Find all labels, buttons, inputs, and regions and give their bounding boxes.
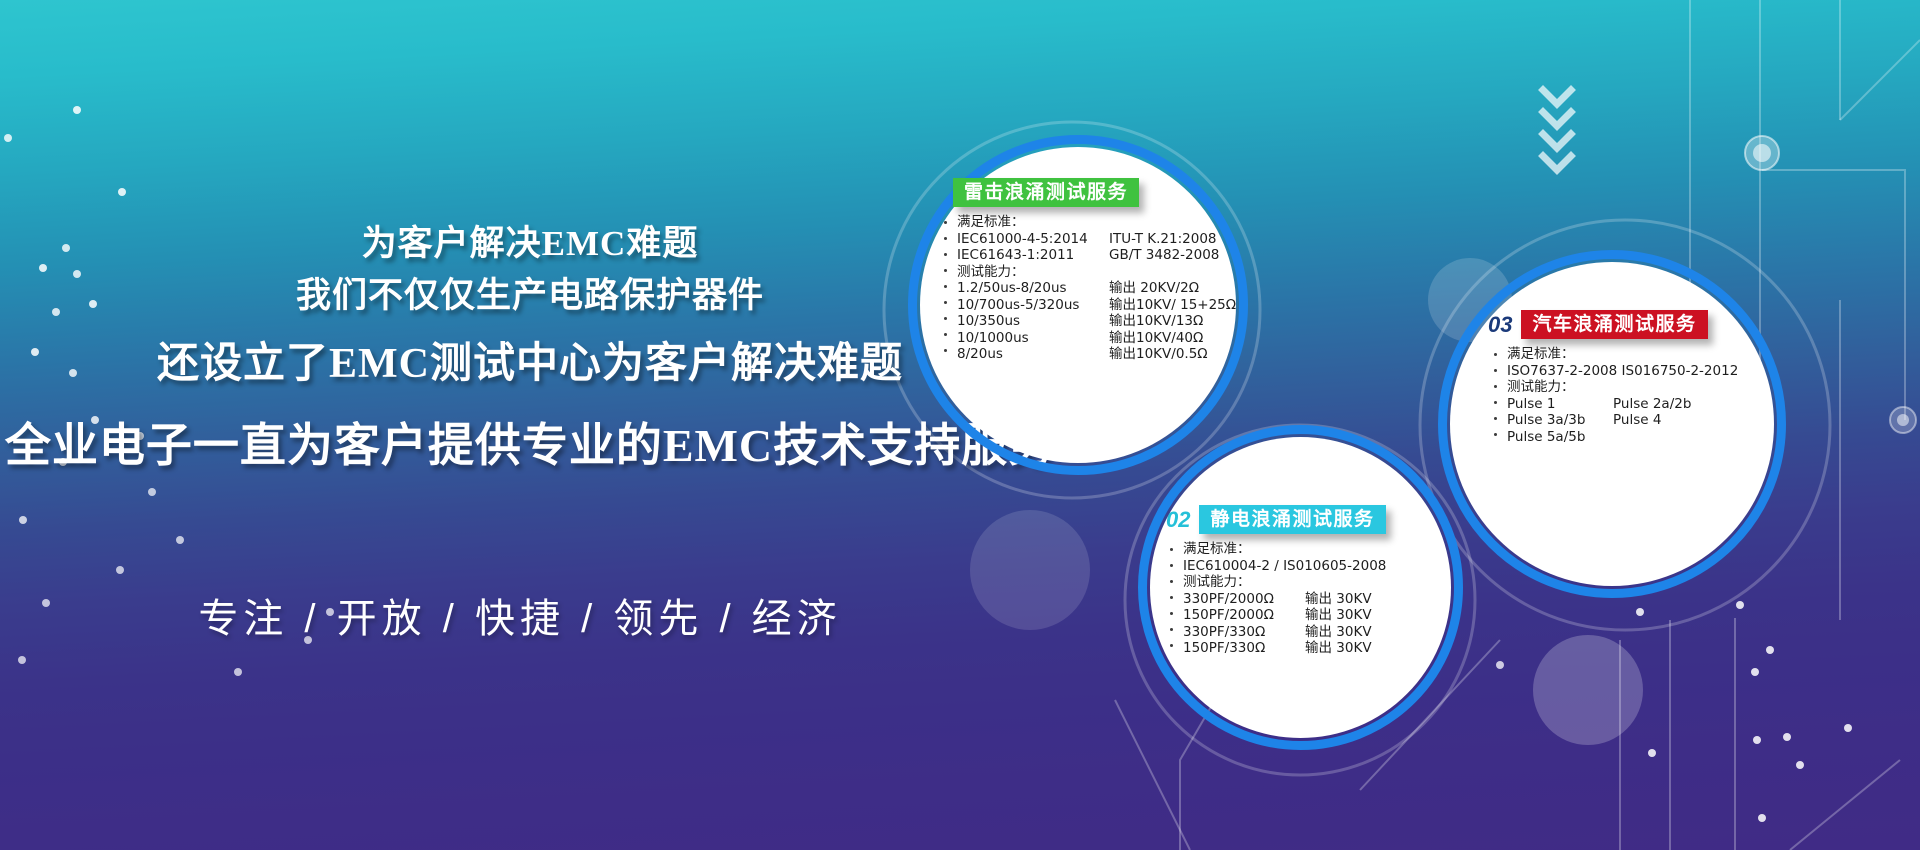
card-2-badge-row: 02 静电浪涌测试服务 [1166, 505, 1466, 534]
card-3-cap-2b: Pulse 4 [1613, 412, 1661, 429]
card-1-cap-2a: 10/700us-5/320us [957, 297, 1109, 314]
dot-column-icon [1494, 346, 1499, 449]
card-3-std-1a: ISO7637-2-2008 IS016750-2-2012 [1507, 363, 1738, 380]
card-3-badge-row: 03 汽车浪涌测试服务 [1488, 310, 1818, 339]
card-1-label-capability: 测试能力： [957, 264, 1236, 281]
card-2-number: 02 [1166, 509, 1190, 531]
node-icon [1890, 407, 1916, 433]
banner-stage: 为客户解决EMC难题 我们不仅仅生产电路保护器件 还设立了EMC测试中心为客户解… [0, 0, 1920, 850]
card-2-label-standards: 满足标准： [1183, 541, 1386, 558]
card-3-number: 03 [1488, 314, 1512, 336]
card-2-cap-1a: 330PF/2000Ω [1183, 591, 1305, 608]
card-2-cap-4b: 输出 30KV [1305, 640, 1372, 657]
card-2-label-capability: 测试能力： [1183, 574, 1386, 591]
card-1-std-1a: IEC61000-4-5:2014 [957, 231, 1109, 248]
dot-column-icon [1170, 541, 1175, 660]
headline-line-4: 全业电子一直为客户提供专业的EMC技术支持服务 [0, 406, 1060, 486]
card-2-cap-3b: 输出 30KV [1305, 624, 1372, 641]
card-1-cap-5a: 8/20us [957, 346, 1109, 363]
card-1-cap-3a: 10/350us [957, 313, 1109, 330]
card-1-label-standards: 满足标准： [957, 214, 1236, 231]
card-1-cap-4a: 10/1000us [957, 330, 1109, 347]
card-3-label-standards: 满足标准： [1507, 346, 1738, 363]
card-2-info: 满足标准： IEC610004-2 / IS010605-2008 测试能力： … [1170, 541, 1466, 660]
card-3-cap-3a: Pulse 5a/5b [1507, 429, 1613, 446]
card-3-cap-2a: Pulse 3a/3b [1507, 412, 1613, 429]
card-1-std-2a: IEC61643-1:2011 [957, 247, 1109, 264]
headline-block: 为客户解决EMC难题 我们不仅仅生产电路保护器件 还设立了EMC测试中心为客户解… [0, 218, 1060, 486]
card-1-badge-row: 雷击浪涌测试服务 [944, 178, 1244, 207]
tagline: 专注 / 开放 / 快捷 / 领先 / 经济 [0, 586, 1040, 644]
card-2-cap-1b: 输出 30KV [1305, 591, 1372, 608]
service-card-1-body: 雷击浪涌测试服务 满足标准： IEC61000-4-5:2014ITU-T K.… [944, 178, 1244, 365]
card-3-badge: 汽车浪涌测试服务 [1521, 310, 1707, 339]
card-2-cap-3a: 330PF/330Ω [1183, 624, 1305, 641]
card-1-cap-1a: 1.2/50us-8/20us [957, 280, 1109, 297]
card-1-cap-4b: 输出10KV/40Ω [1109, 330, 1203, 347]
card-2-cap-2b: 输出 30KV [1305, 607, 1372, 624]
card-3-cap-1a: Pulse 1 [1507, 396, 1613, 413]
chevron-down-icon [1543, 90, 1571, 170]
card-1-std-2b: GB/T 3482-2008 [1109, 247, 1219, 264]
card-2-std-1a: IEC610004-2 / IS010605-2008 [1183, 558, 1386, 575]
accent-blob [1533, 635, 1643, 745]
card-1-badge: 雷击浪涌测试服务 [953, 178, 1139, 207]
node-icon [1745, 136, 1779, 170]
dot-column-icon [944, 214, 949, 365]
service-card-3-body: 03 汽车浪涌测试服务 满足标准： ISO7637-2-2008 IS01675… [1488, 310, 1818, 449]
card-1-cap-3b: 输出10KV/13Ω [1109, 313, 1203, 330]
card-1-info: 满足标准： IEC61000-4-5:2014ITU-T K.21:2008 I… [944, 214, 1244, 365]
card-1-cap-1b: 输出 20KV/2Ω [1109, 280, 1199, 297]
headline-line-2: 我们不仅仅生产电路保护器件 [0, 270, 1060, 322]
card-1-cap-2b: 输出10KV/ 15+25Ω [1109, 297, 1236, 314]
card-2-cap-4a: 150PF/330Ω [1183, 640, 1305, 657]
card-3-label-capability: 测试能力： [1507, 379, 1738, 396]
headline-line-1: 为客户解决EMC难题 [0, 218, 1060, 270]
card-2-badge: 静电浪涌测试服务 [1199, 505, 1385, 534]
service-card-2-body: 02 静电浪涌测试服务 满足标准： IEC610004-2 / IS010605… [1166, 505, 1466, 660]
card-3-cap-1b: Pulse 2a/2b [1613, 396, 1691, 413]
card-1-cap-5b: 输出10KV/0.5Ω [1109, 346, 1208, 363]
headline-line-3: 还设立了EMC测试中心为客户解决难题 [0, 322, 1060, 406]
card-1-std-1b: ITU-T K.21:2008 [1109, 231, 1217, 248]
card-2-cap-2a: 150PF/2000Ω [1183, 607, 1305, 624]
card-3-info: 满足标准： ISO7637-2-2008 IS016750-2-2012 测试能… [1494, 346, 1818, 449]
